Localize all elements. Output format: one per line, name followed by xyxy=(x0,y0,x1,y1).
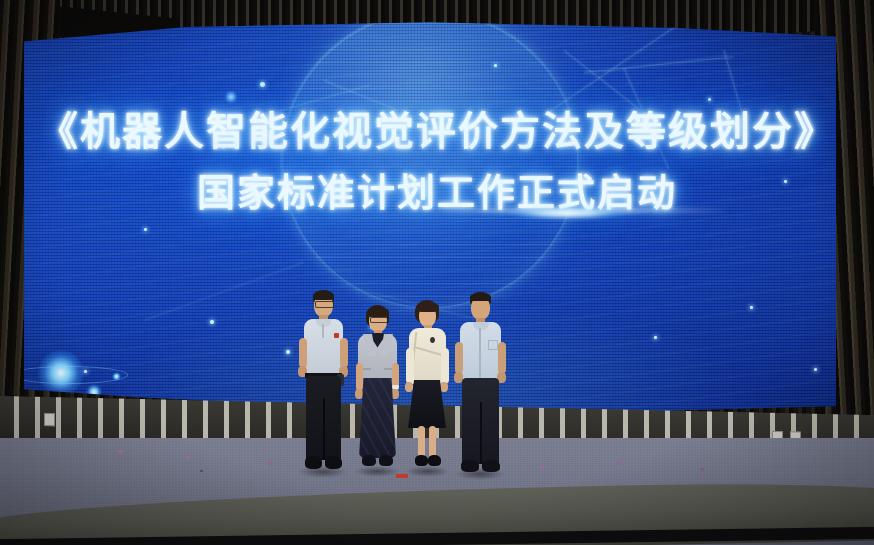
screen-particle xyxy=(654,336,657,339)
arm-left xyxy=(356,363,363,391)
screen-particle xyxy=(210,320,214,324)
shoe-right xyxy=(482,460,500,472)
jacket-pocket-left xyxy=(363,368,371,370)
hair-top xyxy=(313,291,334,300)
glasses xyxy=(315,301,334,308)
person-ground-shadow xyxy=(298,466,348,478)
person-2 xyxy=(352,305,402,477)
floor-confetti xyxy=(186,456,190,459)
floor-confetti xyxy=(700,468,704,471)
shirt-logo xyxy=(334,333,339,338)
screen-title-line-2: 国家标准计划工作正式启动 xyxy=(0,174,874,212)
skirt-pattern xyxy=(359,378,396,458)
shoe-right xyxy=(379,455,393,466)
screen-particle xyxy=(286,350,290,354)
screen-title-line-1: 《机器人智能化视觉评价方法及等级划分》 xyxy=(0,112,874,152)
arm-right xyxy=(441,348,449,384)
person-3 xyxy=(402,300,452,478)
leg-right xyxy=(429,426,436,458)
person-ground-shadow xyxy=(354,466,400,477)
hand-left xyxy=(355,389,363,399)
shoe-right xyxy=(428,455,441,466)
shoe-left xyxy=(362,455,376,466)
screen-particle xyxy=(708,98,711,101)
jacket-pocket-right xyxy=(384,368,392,370)
shoe-left xyxy=(461,460,479,472)
black-skirt xyxy=(408,380,446,428)
arm-left xyxy=(406,348,414,384)
arm-left xyxy=(455,342,463,374)
screen-particle xyxy=(750,306,753,309)
person-ground-shadow xyxy=(405,466,450,477)
floor-confetti xyxy=(268,462,273,465)
photo-scene: 《机器人智能化视觉评价方法及等级划分》 国家标准计划工作正式启动 xyxy=(0,0,874,545)
arm-right xyxy=(340,338,348,368)
trouser-split xyxy=(480,402,482,464)
screen-title-block: 《机器人智能化视觉评价方法及等级划分》 国家标准计划工作正式启动 xyxy=(0,112,874,212)
shirt-pocket xyxy=(488,340,498,350)
screen-particle xyxy=(144,228,147,231)
person-4 xyxy=(452,292,508,480)
arm-right xyxy=(498,342,506,374)
polo-placket xyxy=(322,324,324,338)
hair-fringe xyxy=(416,302,439,312)
glowing-orb-small xyxy=(112,372,121,381)
floor-scuff xyxy=(200,470,203,472)
floor-confetti xyxy=(616,462,621,465)
shoe-left xyxy=(415,455,428,466)
screen-particle xyxy=(814,368,817,371)
floor-confetti xyxy=(540,466,545,469)
wall-outlet xyxy=(44,413,55,426)
shoe-left xyxy=(305,456,322,469)
shirt-placket xyxy=(479,328,481,378)
shoe-right xyxy=(325,456,342,469)
lens-flare-core xyxy=(492,205,642,222)
hair-top xyxy=(470,293,491,301)
glowing-orb-small xyxy=(224,90,238,104)
hand-left xyxy=(405,382,413,392)
hair-fringe xyxy=(367,307,389,317)
glasses xyxy=(370,317,388,323)
brooch xyxy=(430,337,435,343)
floor-confetti xyxy=(118,450,123,453)
arm-left xyxy=(299,338,307,368)
screen-particle xyxy=(494,64,497,67)
person-1 xyxy=(296,290,350,478)
trouser-split xyxy=(323,398,325,460)
leg-left xyxy=(418,426,425,458)
screen-particle xyxy=(260,82,265,87)
